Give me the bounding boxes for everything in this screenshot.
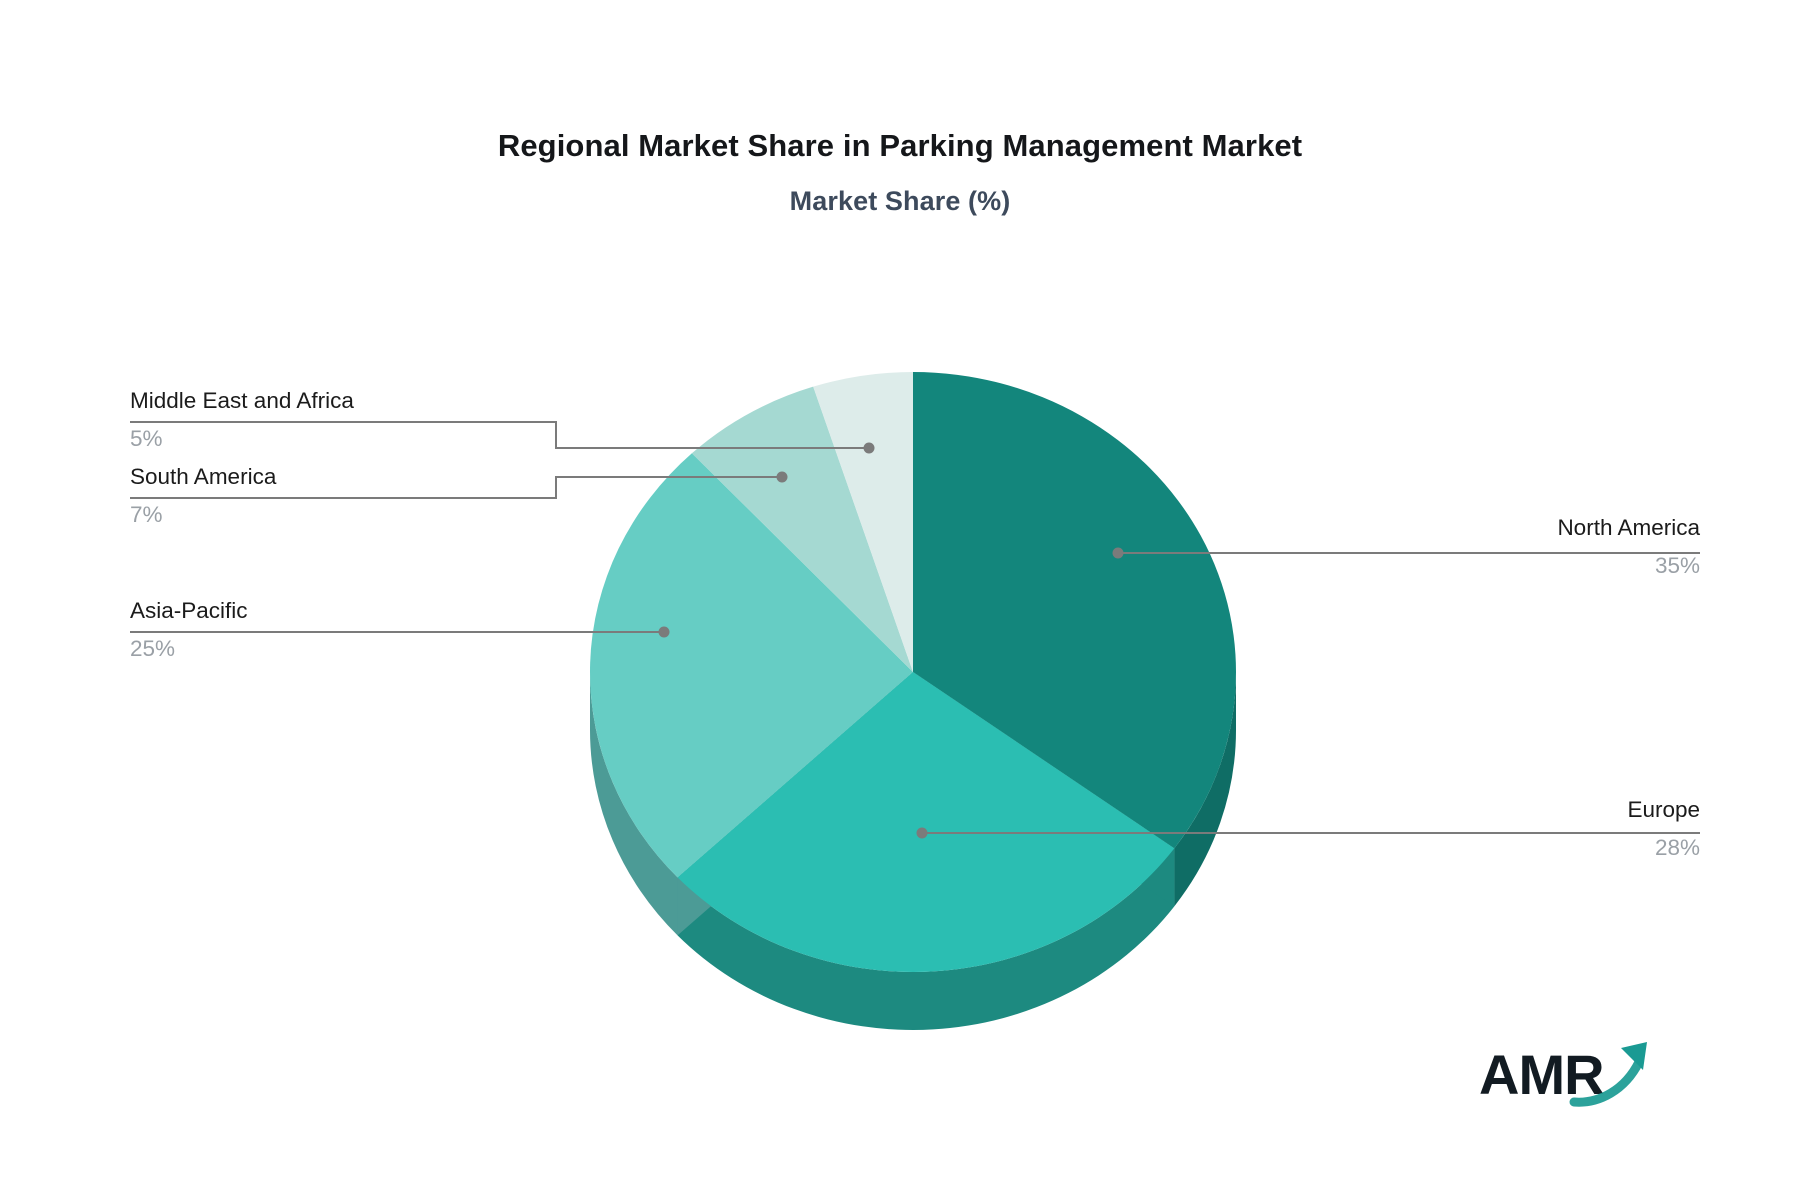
leader-dot-north-america [1113, 548, 1124, 559]
callout-label-europe: Europe [1310, 797, 1700, 823]
callout-label-middle-east-and-africa: Middle East and Africa [130, 388, 600, 414]
callout-value-south-america: 7% [130, 502, 600, 528]
callout-middle-east-and-africa: Middle East and Africa 5% [130, 388, 600, 452]
callout-label-north-america: North America [1310, 515, 1700, 541]
leader-dot-asia-pacific [659, 627, 670, 638]
callout-asia-pacific: Asia-Pacific 25% [130, 598, 600, 662]
leader-dot-south-america [777, 472, 788, 483]
callout-label-asia-pacific: Asia-Pacific [130, 598, 600, 624]
callout-north-america: North America 35% [1310, 515, 1700, 579]
callout-value-north-america: 35% [1310, 553, 1700, 579]
callout-label-south-america: South America [130, 464, 600, 490]
callout-europe: Europe 28% [1310, 797, 1700, 861]
leader-dot-middle-east-and-africa [864, 443, 875, 454]
chart-canvas: Regional Market Share in Parking Managem… [0, 0, 1800, 1196]
callout-value-middle-east-and-africa: 5% [130, 426, 600, 452]
leader-dot-europe [917, 828, 928, 839]
amr-logo: AMR [1479, 1032, 1669, 1110]
callout-south-america: South America 7% [130, 464, 600, 528]
amr-arrow-icon [1479, 1032, 1669, 1110]
pie-slices [590, 372, 1236, 972]
callout-value-europe: 28% [1310, 835, 1700, 861]
callout-value-asia-pacific: 25% [130, 636, 600, 662]
